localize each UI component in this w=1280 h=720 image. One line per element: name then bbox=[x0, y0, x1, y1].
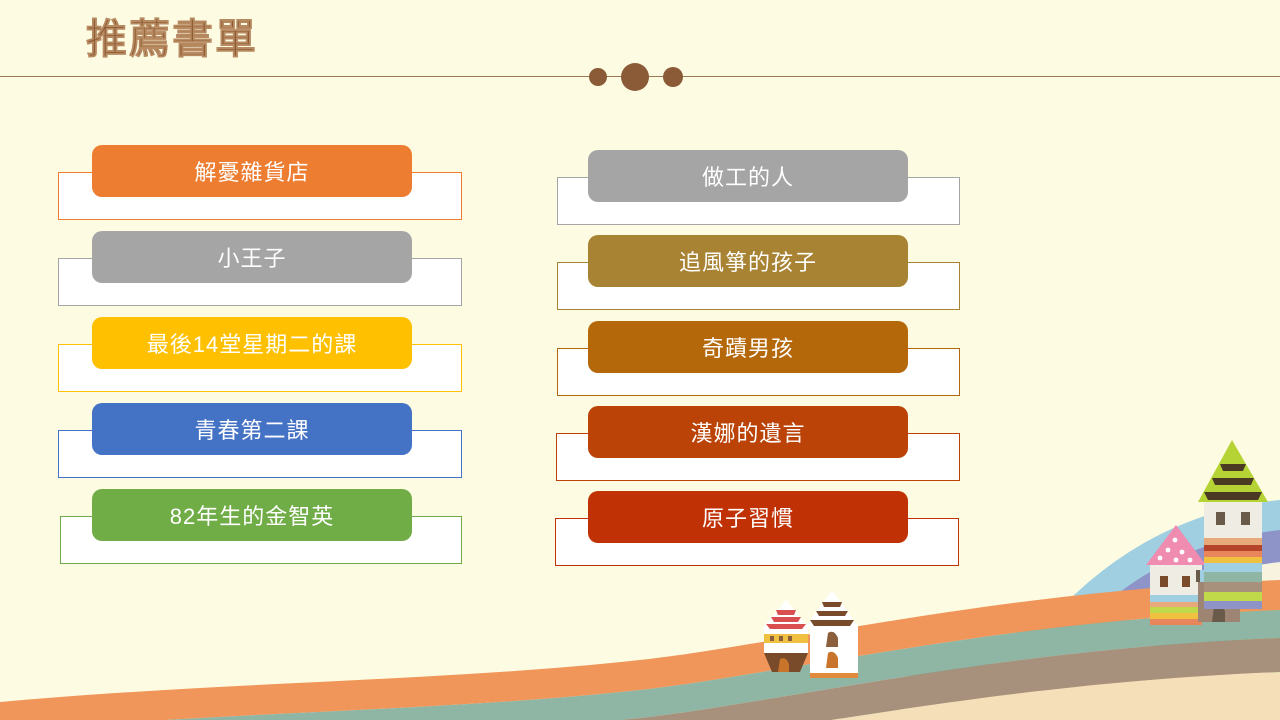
book-label-pill[interactable]: 青春第二課 bbox=[92, 403, 412, 455]
book-item-right-1[interactable]: 做工的人 bbox=[557, 150, 960, 226]
header-dot-small-right bbox=[663, 67, 683, 87]
header-dot-large-center bbox=[621, 63, 649, 91]
book-title: 解憂雜貨店 bbox=[194, 155, 309, 187]
book-label-pill[interactable]: 解憂雜貨店 bbox=[92, 145, 412, 197]
book-label-pill[interactable]: 原子習慣 bbox=[588, 491, 908, 543]
book-title: 漢娜的遺言 bbox=[690, 416, 805, 448]
book-item-right-3[interactable]: 奇蹟男孩 bbox=[557, 321, 960, 397]
book-label-pill[interactable]: 82年生的金智英 bbox=[92, 489, 412, 541]
book-item-right-2[interactable]: 追風箏的孩子 bbox=[557, 235, 960, 311]
castle-block bbox=[1196, 570, 1240, 622]
book-item-left-4[interactable]: 青春第二課 bbox=[58, 403, 462, 479]
book-label-pill[interactable]: 做工的人 bbox=[588, 150, 908, 202]
book-label-pill[interactable]: 追風箏的孩子 bbox=[588, 235, 908, 287]
book-item-left-3[interactable]: 最後14堂星期二的課 bbox=[58, 317, 462, 393]
book-title: 原子習慣 bbox=[702, 501, 794, 533]
center-rainbow-mound bbox=[840, 620, 1280, 720]
tall-tower bbox=[1198, 440, 1268, 609]
slide-canvas: 推薦書單 解憂雜貨店 小王子 最後14堂星期二的課 青春第二課 bbox=[0, 0, 1280, 720]
page-title: 推薦書單 bbox=[86, 15, 258, 64]
hills-and-houses-illustration bbox=[0, 440, 1280, 720]
book-item-left-5[interactable]: 82年生的金智英 bbox=[60, 489, 462, 565]
pink-dotted-house bbox=[1146, 525, 1206, 625]
book-item-left-1[interactable]: 解憂雜貨店 bbox=[58, 145, 462, 221]
book-item-right-4[interactable]: 漢娜的遺言 bbox=[556, 406, 960, 482]
book-label-pill[interactable]: 最後14堂星期二的課 bbox=[92, 317, 412, 369]
book-title: 最後14堂星期二的課 bbox=[147, 327, 357, 359]
book-title: 82年生的金智英 bbox=[170, 499, 334, 531]
book-title: 做工的人 bbox=[702, 160, 794, 192]
book-item-right-5[interactable]: 原子習慣 bbox=[555, 491, 959, 567]
book-label-pill[interactable]: 漢娜的遺言 bbox=[588, 406, 908, 458]
book-label-pill[interactable]: 奇蹟男孩 bbox=[588, 321, 908, 373]
book-item-left-2[interactable]: 小王子 bbox=[58, 231, 462, 307]
book-title: 追風箏的孩子 bbox=[679, 245, 817, 277]
brown-roof-house bbox=[806, 590, 858, 678]
small-striped-house bbox=[762, 600, 810, 672]
hill-bands bbox=[0, 580, 1280, 720]
header-dot-small-left bbox=[589, 68, 607, 86]
book-title: 奇蹟男孩 bbox=[702, 331, 794, 363]
book-title: 小王子 bbox=[217, 241, 286, 273]
book-label-pill[interactable]: 小王子 bbox=[92, 231, 412, 283]
book-title: 青春第二課 bbox=[194, 413, 309, 445]
right-rainbow-hill bbox=[980, 500, 1280, 720]
